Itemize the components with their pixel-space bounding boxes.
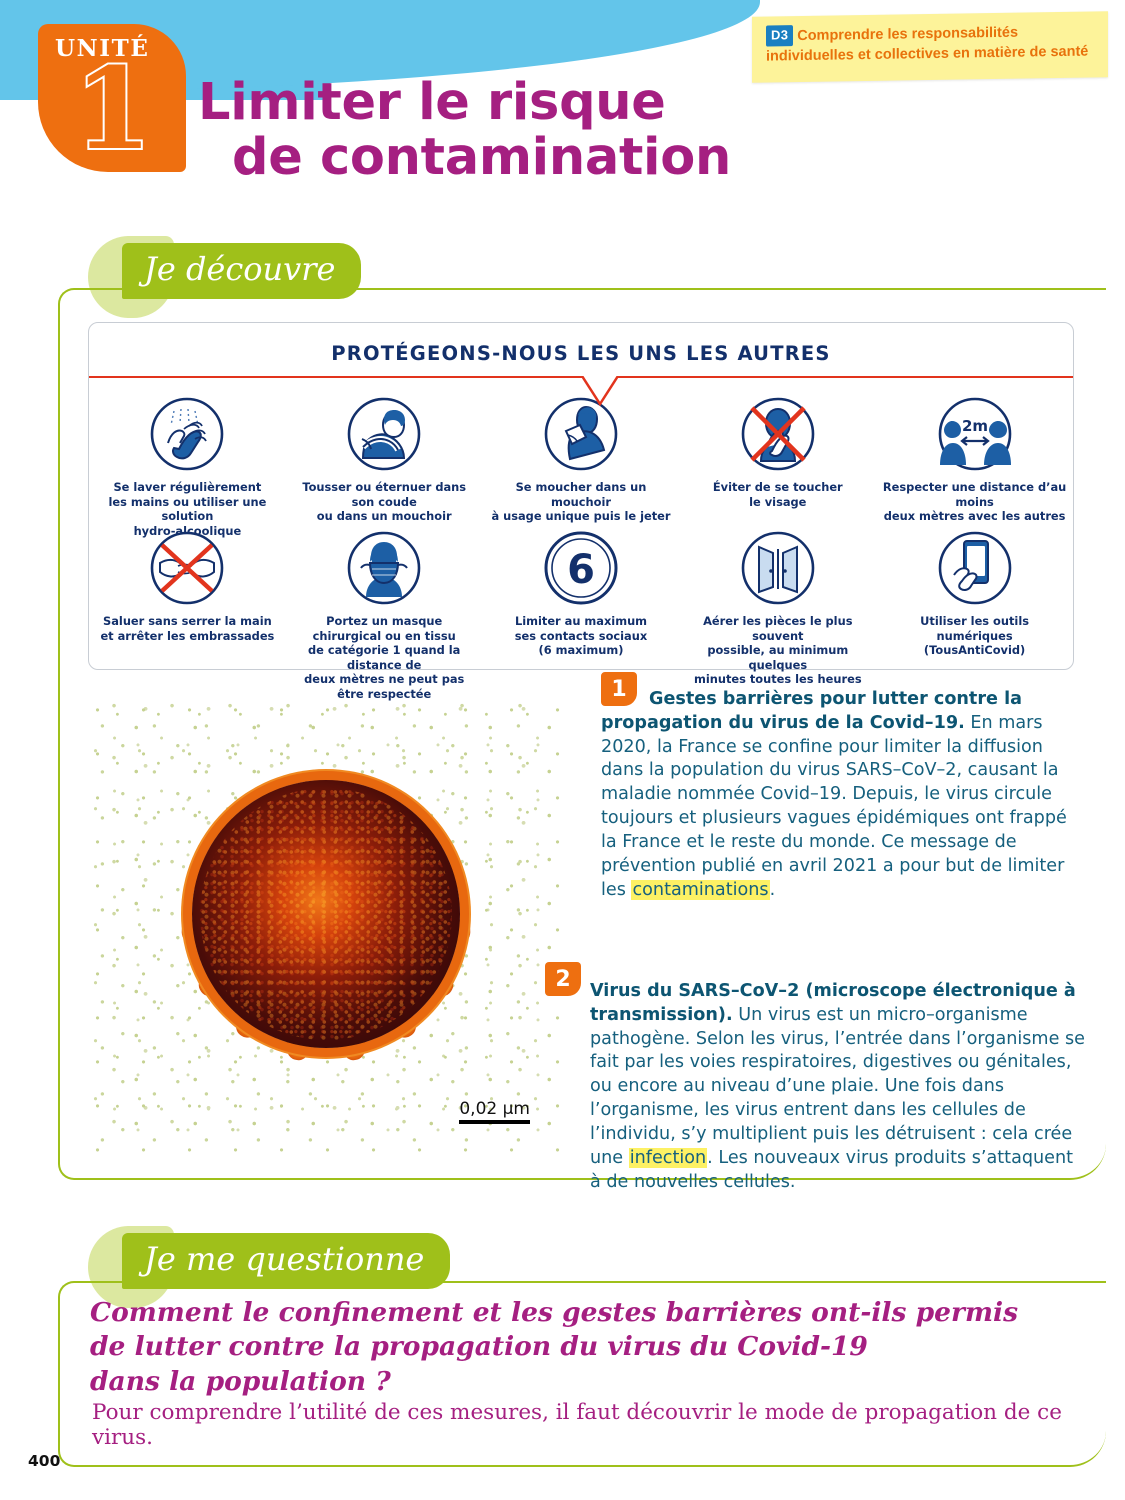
poster-item-caption: Aérer les pièces le plus souvent possibl… — [685, 614, 870, 687]
poster-item: 2m Respecter une distance d’au moins deu… — [876, 389, 1073, 538]
question-line-1: Comment le confinement et les gestes bar… — [90, 1296, 1020, 1330]
poster-item-caption: Se moucher dans un mouchoir à usage uniq… — [489, 480, 674, 524]
tissue-icon — [542, 395, 620, 473]
cough-elbow-icon — [345, 395, 423, 473]
distance-2m-label: 2m — [962, 417, 988, 435]
question-line-3: dans la population ? — [90, 1365, 1020, 1399]
question-text: Comment le confinement et les gestes bar… — [90, 1296, 1020, 1399]
doc-text-1: Gestes barrières pour lutter contre la p… — [601, 688, 1086, 902]
poster-row-1: Se laver régulièrement les mains ou util… — [89, 389, 1073, 538]
doc-number-2: 2 — [545, 962, 581, 996]
ventilate-window-icon — [739, 529, 817, 607]
page-title: Limiter le risque de contamination — [198, 75, 731, 185]
tab-je-me-questionne[interactable]: Je me questionne — [122, 1233, 450, 1289]
poster-item-caption: Saluer sans serrer la main et arrêter le… — [100, 614, 274, 643]
poster-row-2: Saluer sans serrer la main et arrêter le… — [89, 523, 1073, 702]
scale-bar-label: 0,02 µm — [459, 1099, 530, 1119]
doc-text-2: Virus du SARS–CoV–2 (microscope électron… — [590, 980, 1086, 1194]
poster-item: Utiliser les outils numériques (TousAnti… — [876, 523, 1073, 702]
poster-item: Se moucher dans un mouchoir à usage uniq… — [483, 389, 680, 538]
poster-red-rule — [89, 376, 1073, 378]
no-face-touch-icon — [739, 395, 817, 473]
doc-1-highlight: contaminations — [631, 880, 769, 900]
poster-item: Saluer sans serrer la main et arrêter le… — [89, 523, 286, 702]
poster-item-caption: Portez un masque chirurgical ou en tissu… — [292, 614, 477, 702]
page-title-line-1: Limiter le risque — [198, 73, 666, 132]
competence-badge: D3 — [766, 25, 793, 46]
question-line-2: de lutter contre la propagation du virus… — [90, 1330, 1020, 1364]
competence-note: D3Comprendre les responsabilités individ… — [752, 11, 1108, 83]
face-mask-icon — [345, 529, 423, 607]
poster-item-caption: Limiter au maximum ses contacts sociaux … — [515, 614, 647, 658]
competence-line-2: individuelles et collectives en matière … — [766, 44, 1088, 65]
poster-notch-icon — [582, 376, 618, 406]
doc-1-lead: Gestes barrières pour lutter contre la p… — [601, 689, 1022, 733]
unit-number: 1 — [74, 54, 152, 166]
doc-number-1: 1 — [601, 672, 637, 706]
virion-core — [192, 780, 460, 1048]
virion-particle — [192, 780, 460, 1048]
poster-item-caption: Utiliser les outils numériques (TousAnti… — [882, 614, 1067, 658]
tab-je-decouvre[interactable]: Je découvre — [122, 243, 361, 299]
doc-1-body-after: . — [770, 880, 776, 900]
max-six-contacts-icon: 6 — [542, 529, 620, 607]
question-hint: Pour comprendre l’utilité de ces mesures… — [92, 1400, 1125, 1450]
handwashing-icon — [148, 395, 226, 473]
barrier-gestures-poster: PROTÉGEONS-NOUS LES UNS LES AUTRES Se la… — [88, 322, 1074, 670]
scale-bar: 0,02 µm — [459, 1099, 530, 1124]
virus-micrograph: 0,02 µm — [92, 702, 560, 1152]
smartphone-app-icon — [936, 529, 1014, 607]
competence-line-1: Comprendre les responsabilités — [797, 25, 1018, 44]
poster-item: Aérer les pièces le plus souvent possibl… — [679, 523, 876, 702]
page-number: 400 — [28, 1452, 60, 1470]
scale-bar-line — [459, 1120, 530, 1124]
doc-2-highlight: infection — [629, 1148, 707, 1168]
poster-item-caption: Tousser ou éternuer dans son coude ou da… — [292, 480, 477, 524]
doc-2-body-before: Un virus est un micro–organisme pathogèn… — [590, 1005, 1085, 1168]
tab-je-decouvre-label: Je découvre — [144, 250, 335, 288]
poster-item-caption: Respecter une distance d’au moins deux m… — [882, 480, 1067, 524]
doc-1-body-before: En mars 2020, la France se confine pour … — [601, 713, 1067, 900]
poster-item: 6 Limiter au maximum ses contacts sociau… — [483, 523, 680, 702]
poster-item: Tousser ou éternuer dans son coude ou da… — [286, 389, 483, 538]
page-title-line-2: de contamination — [232, 130, 731, 185]
tab-je-me-questionne-label: Je me questionne — [144, 1240, 424, 1278]
distance-2m-icon: 2m — [936, 395, 1014, 473]
poster-item: Portez un masque chirurgical ou en tissu… — [286, 523, 483, 702]
max-six-label: 6 — [567, 547, 595, 593]
poster-item-caption: Éviter de se toucher le visage — [713, 480, 843, 509]
poster-item: Se laver régulièrement les mains ou util… — [89, 389, 286, 538]
no-handshake-icon — [148, 529, 226, 607]
poster-title: PROTÉGEONS-NOUS LES UNS LES AUTRES — [89, 323, 1073, 365]
poster-item: Éviter de se toucher le visage — [679, 389, 876, 538]
